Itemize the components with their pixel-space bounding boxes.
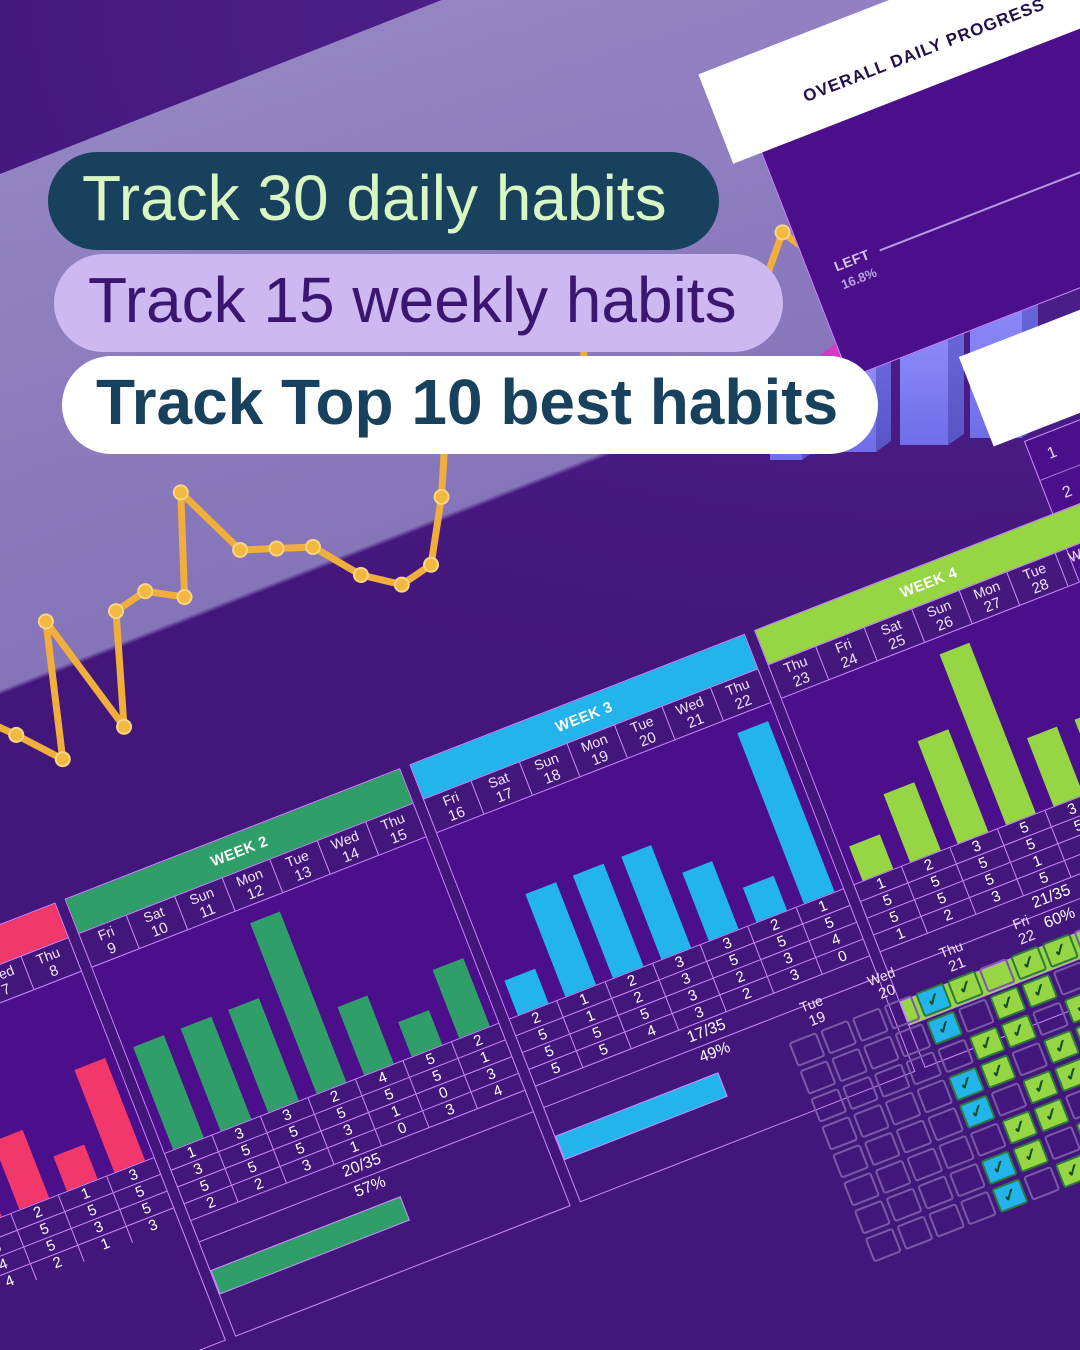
week-bar: [0, 1130, 50, 1210]
headline-pill-2: Track 15 weekly habits: [54, 254, 783, 352]
overall-progress-donut: 83.16%: [1053, 0, 1080, 259]
week-bar: [1027, 726, 1080, 806]
top10-rank: 1: [1029, 437, 1075, 469]
habit-checkbox[interactable]: ✓: [991, 1178, 1028, 1213]
habit-checkbox[interactable]: [896, 1215, 933, 1250]
habit-checkbox[interactable]: [960, 1191, 997, 1226]
line-chart-point: [432, 488, 450, 506]
week-bar: [433, 958, 490, 1038]
headline-pill-3: Track Top 10 best habits: [62, 356, 878, 454]
donut-leader-line: [879, 130, 1080, 252]
line-chart-point: [175, 588, 193, 606]
week-bar: [682, 861, 739, 941]
habit-checkbox[interactable]: [865, 1228, 902, 1263]
habit-checkbox[interactable]: [1023, 1166, 1060, 1201]
top10-rank: 2: [1045, 476, 1080, 508]
line-chart-point: [268, 539, 286, 557]
week-bar: [884, 782, 941, 862]
week-bar: [337, 995, 394, 1075]
headline-pill-1: Track 30 daily habits: [48, 152, 719, 250]
headline-pill-stack: Track 30 daily habits Track 15 weekly ha…: [48, 152, 878, 458]
habit-checkbox[interactable]: [928, 1203, 965, 1238]
